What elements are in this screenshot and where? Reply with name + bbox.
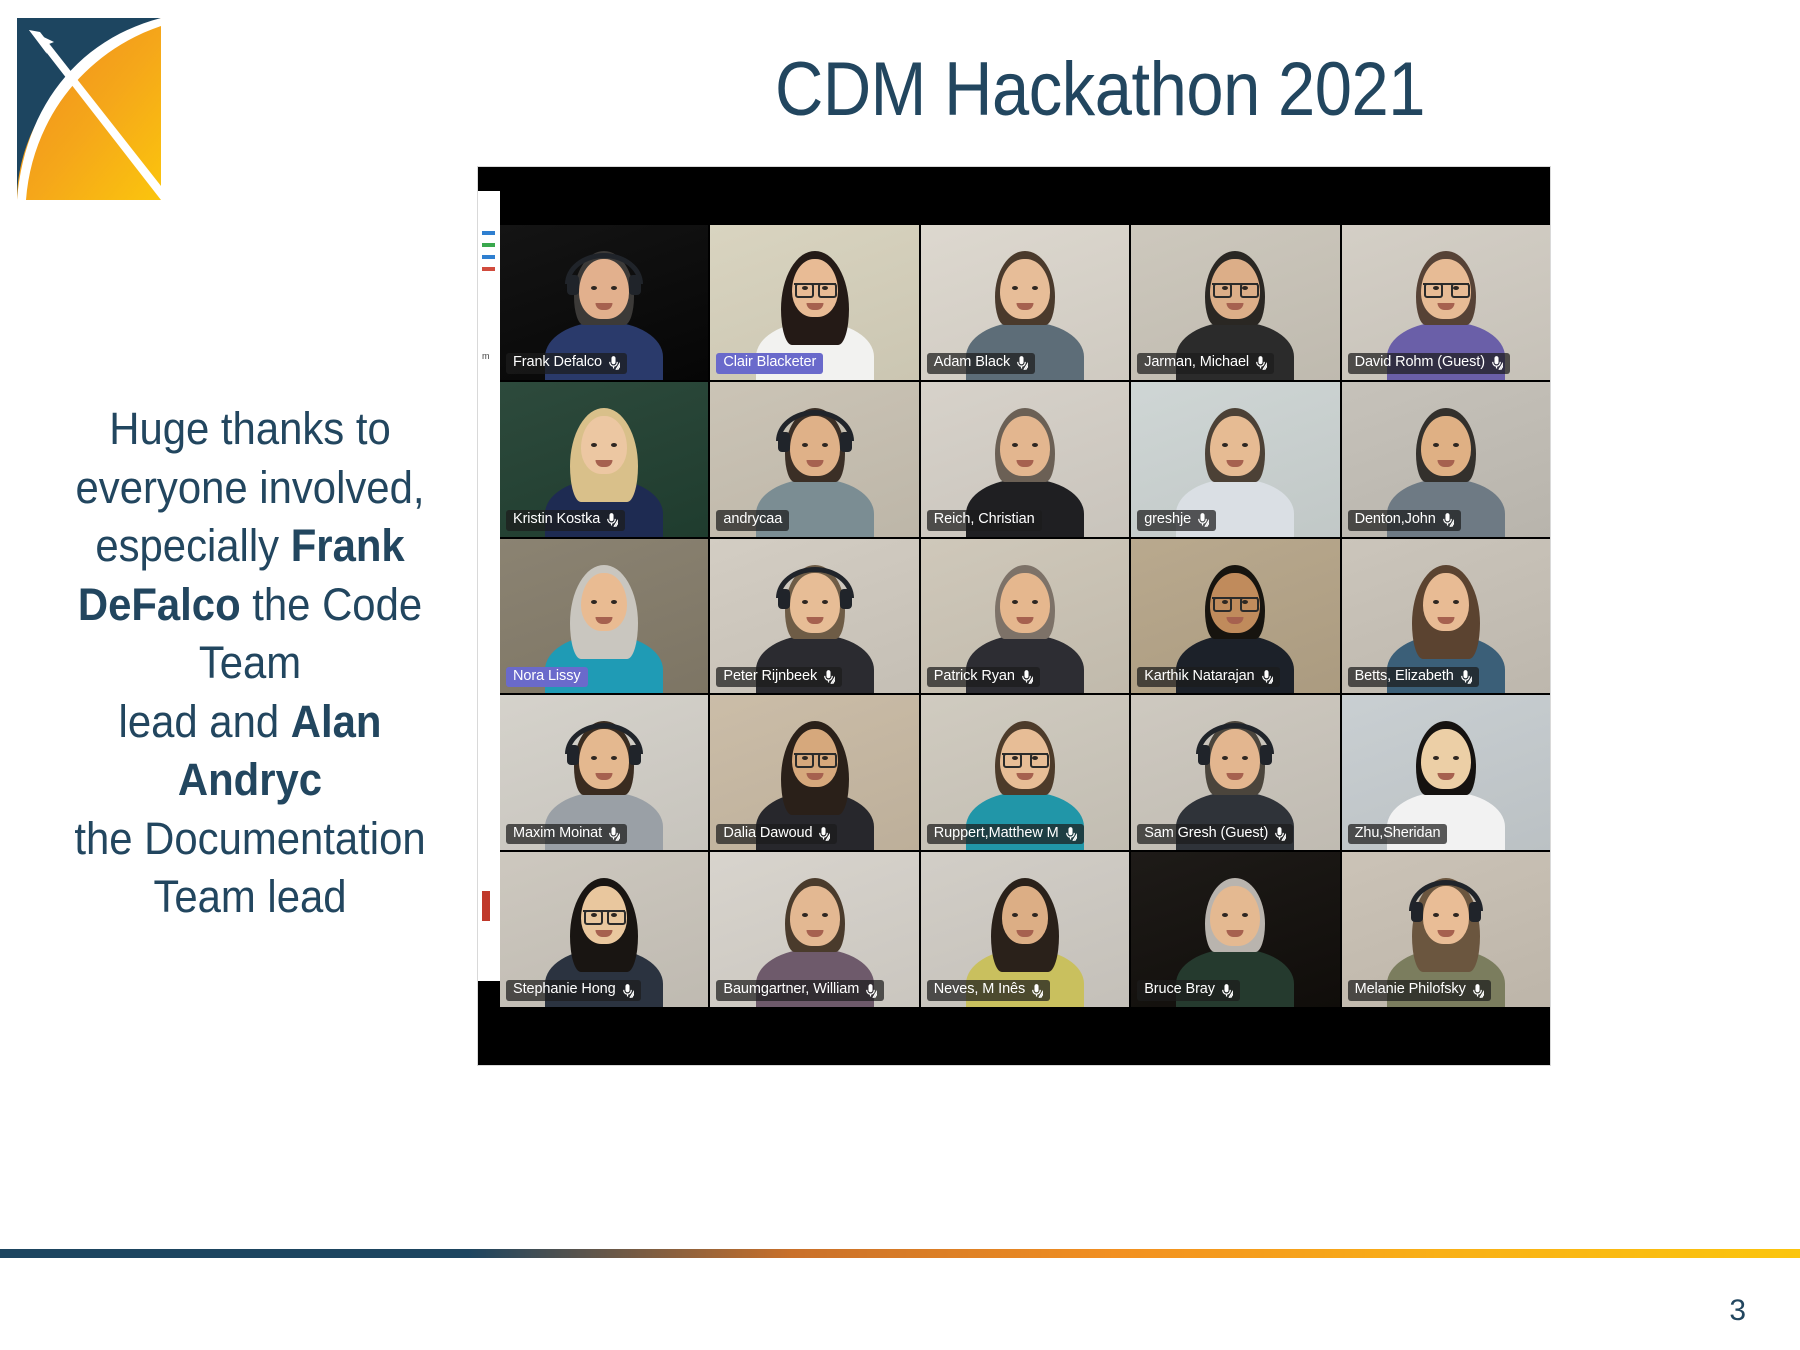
headset-earcup-right: [840, 432, 852, 452]
participant-eye-left: [802, 443, 808, 447]
desktop-sliver: m: [478, 191, 500, 981]
participant-eye-right: [611, 443, 617, 447]
participant-video-grid: Frank DefalcoClair BlacketerAdam BlackJa…: [500, 225, 1550, 1007]
participant-eye-left: [591, 600, 597, 604]
participant-tile[interactable]: Baumgartner, William: [710, 852, 918, 1007]
participant-face: [1000, 259, 1050, 319]
headset-earcup-left: [778, 589, 790, 609]
headset-earcup-left: [567, 275, 579, 295]
participant-name: Adam Black: [934, 355, 1010, 371]
participant-eye-right: [1453, 600, 1459, 604]
participant-name-badge: Peter Rijnbeek: [716, 667, 842, 688]
thanks-line-6: the Documentation: [74, 813, 425, 864]
participant-eye-left: [802, 913, 808, 917]
participant-name-badge: greshje: [1137, 510, 1216, 531]
participant-name: Betts, Elizabeth: [1355, 669, 1454, 685]
headset-earcup-right: [1469, 902, 1481, 922]
headset-earcup-right: [629, 745, 641, 765]
participant-name-badge: Kristin Kostka: [506, 510, 625, 531]
participant-tile[interactable]: Betts, Elizabeth: [1342, 539, 1550, 694]
thanks-line-1: Huge thanks to: [109, 403, 391, 454]
thanks-text-block: Huge thanks to everyone involved, especi…: [64, 400, 436, 927]
participant-name: Sam Gresh (Guest): [1144, 826, 1268, 842]
participant-tile[interactable]: Neves, M Inês: [921, 852, 1129, 1007]
participant-name-badge: Baumgartner, William: [716, 980, 884, 1001]
participant-name-badge: Frank Defalco: [506, 353, 627, 374]
participant-eye-right: [822, 286, 828, 290]
muted-microphone-icon: [817, 826, 830, 841]
glasses-lens-right: [607, 910, 626, 925]
muted-microphone-icon: [1254, 355, 1267, 370]
participant-eye-right: [822, 913, 828, 917]
participant-name-badge: Bruce Bray: [1137, 980, 1240, 1001]
participant-tile[interactable]: Denton,John: [1342, 382, 1550, 537]
muted-microphone-icon: [605, 512, 618, 527]
muted-microphone-icon: [1015, 355, 1028, 370]
participant-tile[interactable]: Patrick Ryan: [921, 539, 1129, 694]
glasses-lens-left: [1424, 283, 1443, 298]
glasses-lens-right: [818, 283, 837, 298]
zoom-meeting-screenshot: m Frank DefalcoClair BlacketerAdam Black…: [478, 167, 1550, 1065]
participant-name: Melanie Philofsky: [1355, 982, 1466, 998]
participant-tile[interactable]: Jarman, Michael: [1131, 225, 1339, 380]
participant-face: [1000, 416, 1050, 476]
participant-eye-left: [591, 443, 597, 447]
participant-name-badge: Karthik Natarajan: [1137, 667, 1279, 688]
participant-eye-right: [1453, 443, 1459, 447]
thanks-frank: Frank: [291, 520, 405, 571]
participant-eye-left: [1433, 443, 1439, 447]
participant-tile[interactable]: Sam Gresh (Guest): [1131, 695, 1339, 850]
participant-eye-left: [1012, 286, 1018, 290]
participant-name-badge: Neves, M Inês: [927, 980, 1050, 1001]
participant-name-badge: Nora Lissy: [506, 667, 588, 688]
participant-name-badge: Betts, Elizabeth: [1348, 667, 1479, 688]
participant-name-badge: Reich, Christian: [927, 510, 1042, 531]
participant-tile[interactable]: Peter Rijnbeek: [710, 539, 918, 694]
participant-eye-right: [1242, 600, 1248, 604]
participant-name: Kristin Kostka: [513, 512, 600, 528]
participant-eye-left: [1433, 600, 1439, 604]
participant-name-badge: Patrick Ryan: [927, 667, 1040, 688]
participant-tile[interactable]: andrycaa: [710, 382, 918, 537]
participant-tile[interactable]: Zhu,Sheridan: [1342, 695, 1550, 850]
glasses-lens-left: [1213, 597, 1232, 612]
participant-name-badge: Maxim Moinat: [506, 824, 627, 845]
participant-eye-right: [1032, 443, 1038, 447]
muted-microphone-icon: [822, 669, 835, 684]
thanks-line-2: everyone involved,: [76, 462, 425, 513]
muted-microphone-icon: [1196, 512, 1209, 527]
participant-tile[interactable]: greshje: [1131, 382, 1339, 537]
page-title: CDM Hackathon 2021: [519, 52, 1681, 128]
headset-earcup-left: [567, 745, 579, 765]
participant-name: Jarman, Michael: [1144, 355, 1249, 371]
participant-eye-right: [611, 600, 617, 604]
participant-face: [790, 886, 840, 946]
participant-name: Patrick Ryan: [934, 669, 1015, 685]
participant-eye-right: [1032, 600, 1038, 604]
participant-tile[interactable]: Kristin Kostka: [500, 382, 708, 537]
participant-tile[interactable]: Frank Defalco: [500, 225, 708, 380]
participant-name: Nora Lissy: [513, 669, 581, 685]
participant-name-badge: Adam Black: [927, 353, 1035, 374]
participant-name: Ruppert,Matthew M: [934, 826, 1059, 842]
headset-earcup-right: [840, 589, 852, 609]
participant-name-badge: Jarman, Michael: [1137, 353, 1274, 374]
muted-microphone-icon: [1490, 355, 1503, 370]
headset-earcup-left: [778, 432, 790, 452]
thanks-defalco: DeFalco: [78, 579, 241, 630]
participant-name-badge: Dalia Dawoud: [716, 824, 837, 845]
participant-name: Maxim Moinat: [513, 826, 602, 842]
muted-microphone-icon: [1273, 826, 1286, 841]
participant-eye-left: [802, 600, 808, 604]
participant-name: Reich, Christian: [934, 512, 1035, 528]
participant-tile[interactable]: Stephanie Hong: [500, 852, 708, 1007]
muted-microphone-icon: [1220, 983, 1233, 998]
participant-tile[interactable]: Clair Blacketer: [710, 225, 918, 380]
participant-eye-left: [1433, 286, 1439, 290]
participant-eye-right: [822, 600, 828, 604]
participant-name: Karthik Natarajan: [1144, 669, 1254, 685]
muted-microphone-icon: [1459, 669, 1472, 684]
muted-microphone-icon: [1441, 512, 1454, 527]
muted-microphone-icon: [864, 983, 877, 998]
participant-name-badge: Denton,John: [1348, 510, 1461, 531]
thanks-line-3-prefix: especially: [95, 520, 290, 571]
participant-name: Neves, M Inês: [934, 982, 1025, 998]
thanks-line-5-prefix: lead and: [119, 696, 291, 747]
headset-earcup-right: [629, 275, 641, 295]
page-number: 3: [1729, 1294, 1746, 1328]
participant-face: [1000, 573, 1050, 633]
muted-microphone-icon: [1030, 983, 1043, 998]
participant-tile[interactable]: David Rohm (Guest): [1342, 225, 1550, 380]
participant-name-badge: David Rohm (Guest): [1348, 353, 1510, 374]
participant-name: Denton,John: [1355, 512, 1436, 528]
participant-name: Zhu,Sheridan: [1355, 826, 1441, 842]
participant-eye-left: [802, 286, 808, 290]
participant-eye-left: [1222, 600, 1228, 604]
participant-face: [1421, 729, 1471, 789]
participant-tile[interactable]: Ruppert,Matthew M: [921, 695, 1129, 850]
participant-name: Baumgartner, William: [723, 982, 859, 998]
thanks-line-7: Team lead: [153, 871, 346, 922]
participant-tile[interactable]: Karthik Natarajan: [1131, 539, 1339, 694]
participant-name: Peter Rijnbeek: [723, 669, 817, 685]
muted-microphone-icon: [621, 983, 634, 998]
participant-name: greshje: [1144, 512, 1191, 528]
participant-tile[interactable]: Bruce Bray: [1131, 852, 1339, 1007]
participant-name: Frank Defalco: [513, 355, 602, 371]
participant-tile[interactable]: Nora Lissy: [500, 539, 708, 694]
participant-name-badge: Clair Blacketer: [716, 353, 823, 374]
participant-tile[interactable]: Adam Black: [921, 225, 1129, 380]
participant-name-badge: Sam Gresh (Guest): [1137, 824, 1293, 845]
participant-face: [1210, 416, 1260, 476]
participant-tile[interactable]: Dalia Dawoud: [710, 695, 918, 850]
participant-name: Stephanie Hong: [513, 982, 616, 998]
participant-name: Bruce Bray: [1144, 982, 1215, 998]
headset-earcup-left: [1411, 902, 1423, 922]
participant-face: [1421, 416, 1471, 476]
participant-name-badge: Stephanie Hong: [506, 980, 641, 1001]
ohdsi-logo: [14, 14, 164, 204]
muted-microphone-icon: [1260, 669, 1273, 684]
participant-eye-right: [1453, 286, 1459, 290]
glasses-lens-right: [1240, 597, 1259, 612]
headset-earcup-right: [1260, 745, 1272, 765]
participant-eye-left: [1012, 600, 1018, 604]
participant-name: Clair Blacketer: [723, 355, 816, 371]
participant-name: David Rohm (Guest): [1355, 355, 1485, 371]
participant-eye-left: [1012, 443, 1018, 447]
footer-gradient-rule: [0, 1249, 1800, 1258]
participant-name: Dalia Dawoud: [723, 826, 812, 842]
headset-earcup-left: [1198, 745, 1210, 765]
participant-name-badge: andrycaa: [716, 510, 789, 531]
muted-microphone-icon: [1471, 983, 1484, 998]
muted-microphone-icon: [1020, 669, 1033, 684]
participant-name-badge: Zhu,Sheridan: [1348, 824, 1448, 845]
participant-face: [1210, 886, 1260, 946]
participant-name: andrycaa: [723, 512, 782, 528]
participant-name-badge: Ruppert,Matthew M: [927, 824, 1084, 845]
participant-tile[interactable]: Melanie Philofsky: [1342, 852, 1550, 1007]
participant-name-badge: Melanie Philofsky: [1348, 980, 1491, 1001]
muted-microphone-icon: [607, 826, 620, 841]
participant-eye-right: [1032, 286, 1038, 290]
muted-microphone-icon: [607, 355, 620, 370]
participant-tile[interactable]: Maxim Moinat: [500, 695, 708, 850]
participant-tile[interactable]: Reich, Christian: [921, 382, 1129, 537]
muted-microphone-icon: [1064, 826, 1077, 841]
participant-eye-right: [822, 443, 828, 447]
